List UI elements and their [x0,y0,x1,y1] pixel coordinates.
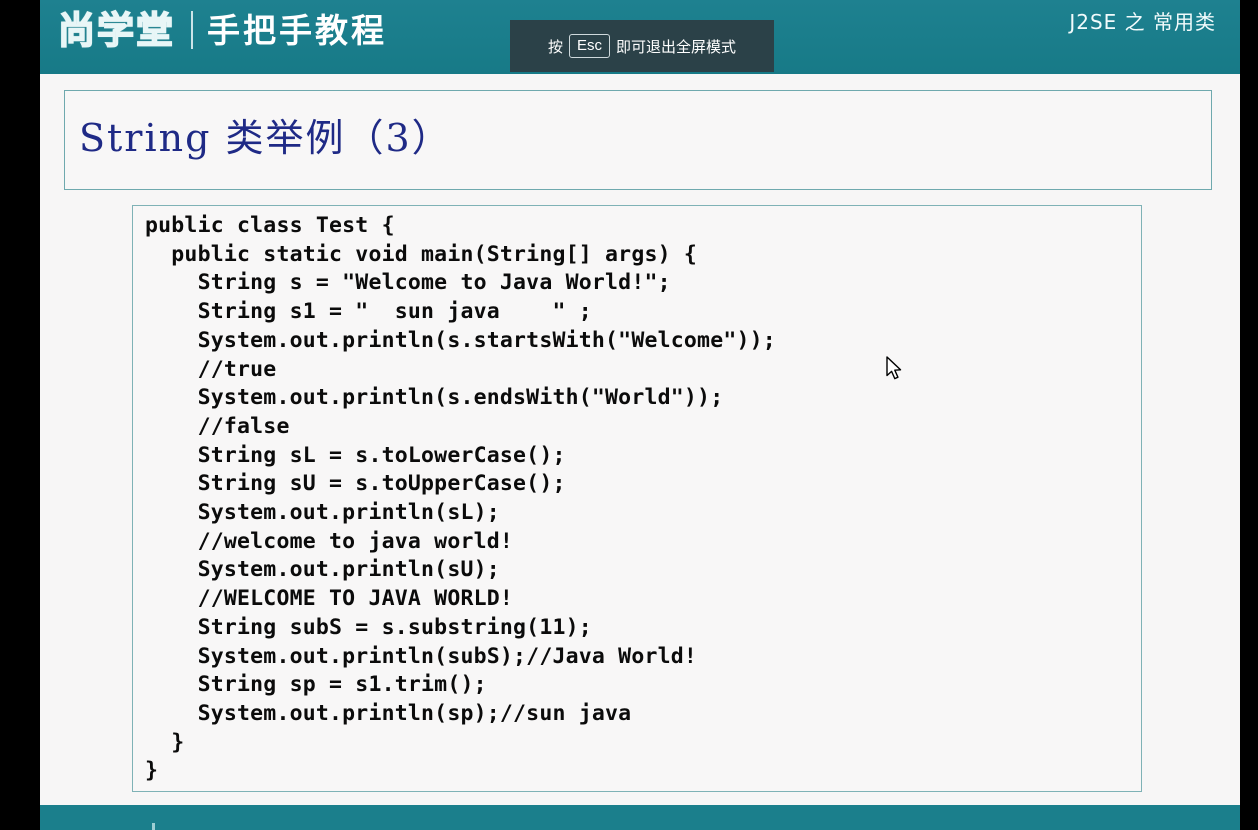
fullscreen-slide-viewer: 尚学堂 手把手教程 J2SE 之 常用类 按 Esc 即可退出全屏模式 Stri… [0,0,1258,830]
letterbox-right [1240,0,1258,830]
slide-canvas: 尚学堂 手把手教程 J2SE 之 常用类 按 Esc 即可退出全屏模式 Stri… [40,0,1240,830]
java-code-listing: public class Test { public static void m… [145,212,776,786]
course-title: J2SE 之 常用类 [1069,6,1216,35]
esc-toast-suffix: 即可退出全屏模式 [616,36,736,57]
brand-logo: 尚学堂 手把手教程 [58,2,387,58]
footer-progress-tick [152,823,155,830]
exit-fullscreen-toast: 按 Esc 即可退出全屏模式 [510,20,774,72]
slide-title-box: String 类举例（3） [64,90,1212,190]
code-block-panel: public class Test { public static void m… [132,205,1142,792]
letterbox-left [0,0,40,830]
esc-key-badge: Esc [569,34,610,57]
esc-toast-prefix: 按 [548,36,563,57]
page-title: String 类举例（3） [79,107,452,162]
logo-wordmark: 尚学堂 [58,12,175,49]
logo-tagline: 手把手教程 [207,14,387,47]
logo-divider [191,11,193,49]
slide-footer-bar [40,805,1240,830]
